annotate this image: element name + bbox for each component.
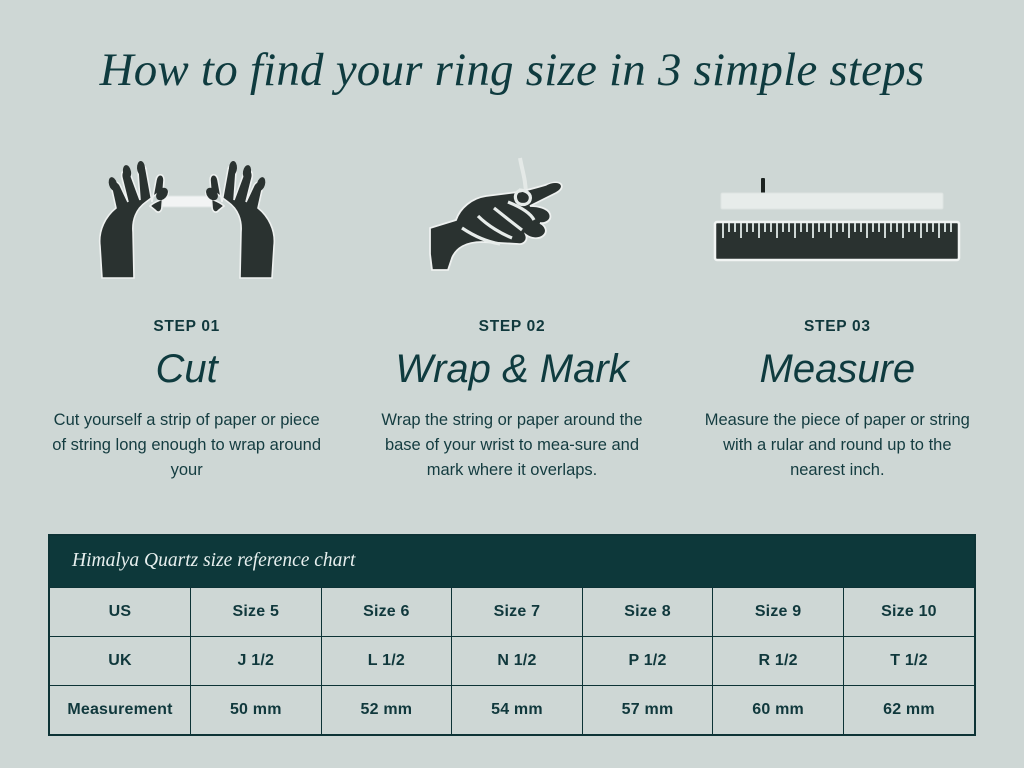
table-cell: N 1/2 <box>452 637 583 686</box>
step-card-1: STEP 01 Cut Cut yourself a strip of pape… <box>24 140 349 483</box>
step-title: Wrap & Mark <box>395 346 628 392</box>
table-row: US Size 5 Size 6 Size 7 Size 8 Size 9 Si… <box>50 588 974 637</box>
step-description: Measure the piece of paper or string wit… <box>697 408 977 483</box>
table-cell: T 1/2 <box>843 637 974 686</box>
steps-row: STEP 01 Cut Cut yourself a strip of pape… <box>24 140 1000 483</box>
table-row: Measurement 50 mm 52 mm 54 mm 57 mm 60 m… <box>50 686 974 735</box>
table-cell: 52 mm <box>321 686 452 735</box>
pointing-hand-with-string-icon <box>349 140 674 290</box>
step-description: Cut yourself a strip of paper or piece o… <box>47 408 327 483</box>
step-title: Cut <box>156 346 218 392</box>
step-title: Measure <box>760 346 916 392</box>
table-cell: 62 mm <box>843 686 974 735</box>
step-kicker: STEP 01 <box>153 318 220 336</box>
table-cell: R 1/2 <box>713 637 844 686</box>
table-cell: 57 mm <box>582 686 713 735</box>
table-caption: Himalya Quartz size reference chart <box>50 536 974 587</box>
row-header: US <box>50 588 191 637</box>
table-cell: L 1/2 <box>321 637 452 686</box>
table-cell: Size 5 <box>191 588 322 637</box>
table-cell: Size 6 <box>321 588 452 637</box>
size-chart: US Size 5 Size 6 Size 7 Size 8 Size 9 Si… <box>50 587 974 734</box>
step-card-3: STEP 03 Measure Measure the piece of pap… <box>675 140 1000 483</box>
size-reference-table: Himalya Quartz size reference chart US S… <box>48 534 976 736</box>
table-cell: Size 8 <box>582 588 713 637</box>
row-header: UK <box>50 637 191 686</box>
table-cell: 60 mm <box>713 686 844 735</box>
page-title: How to find your ring size in 3 simple s… <box>0 40 1024 100</box>
step-kicker: STEP 02 <box>479 318 546 336</box>
step-description: Wrap the string or paper around the base… <box>372 408 652 483</box>
table-row: UK J 1/2 L 1/2 N 1/2 P 1/2 R 1/2 T 1/2 <box>50 637 974 686</box>
two-hands-holding-paper-strip-icon <box>24 140 349 290</box>
table-cell: P 1/2 <box>582 637 713 686</box>
step-kicker: STEP 03 <box>804 318 871 336</box>
ruler-and-marked-paper-icon <box>675 140 1000 290</box>
table-cell: 54 mm <box>452 686 583 735</box>
table-cell: Size 7 <box>452 588 583 637</box>
table-cell: Size 10 <box>843 588 974 637</box>
step-card-2: STEP 02 Wrap & Mark Wrap the string or p… <box>349 140 674 483</box>
table-cell: J 1/2 <box>191 637 322 686</box>
table-cell: Size 9 <box>713 588 844 637</box>
row-header: Measurement <box>50 686 191 735</box>
table-cell: 50 mm <box>191 686 322 735</box>
